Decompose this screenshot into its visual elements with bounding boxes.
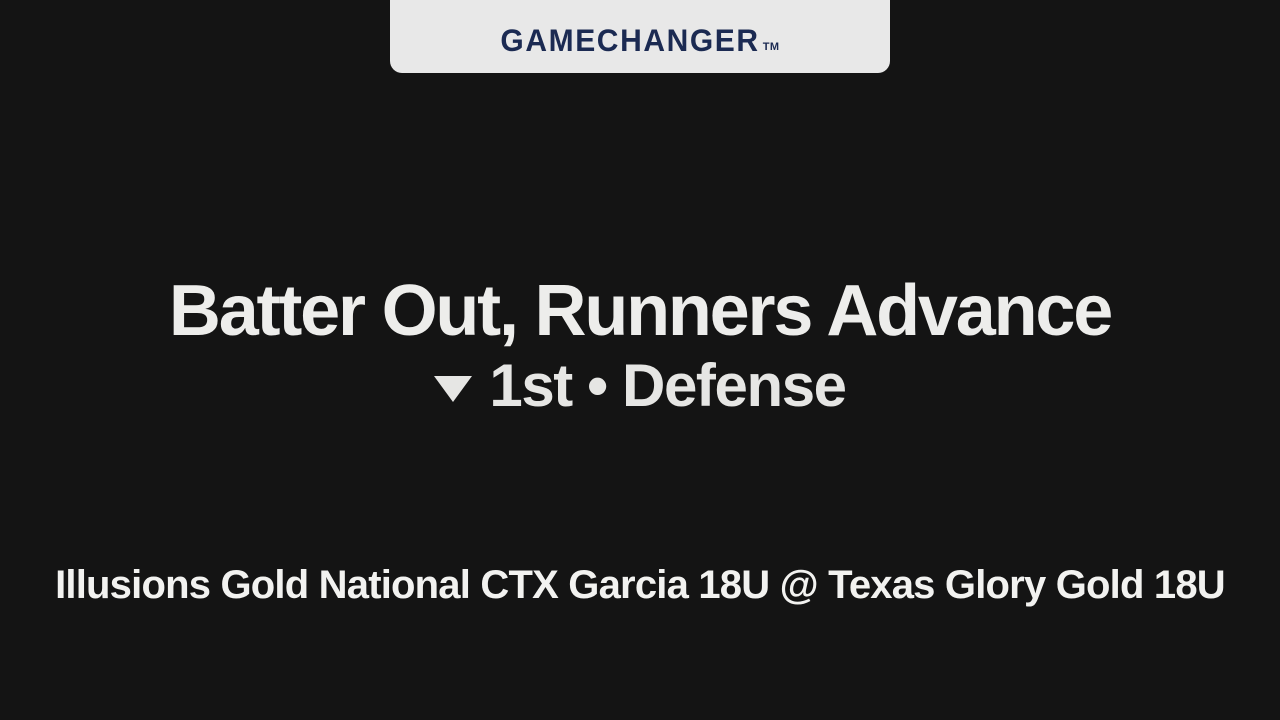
livestream-event-overlay: GAMECHANGER TM Batter Out, Runners Advan… [0, 0, 1280, 720]
event-headline: Batter Out, Runners Advance [0, 272, 1280, 350]
gamechanger-wordmark: GAMECHANGER [500, 26, 759, 57]
brand-lockup: GAMECHANGER TM [500, 27, 779, 57]
triangle-down-icon [434, 376, 472, 402]
inning-and-side-label: 1st • Defense [489, 356, 845, 416]
trademark-icon: TM [763, 42, 780, 53]
event-subline: 1st • Defense [0, 356, 1280, 416]
gamechanger-brand-badge: GAMECHANGER TM [390, 0, 890, 73]
event-announcement: Batter Out, Runners Advance 1st • Defens… [0, 272, 1280, 416]
matchup-label: Illusions Gold National CTX Garcia 18U @… [0, 563, 1280, 608]
